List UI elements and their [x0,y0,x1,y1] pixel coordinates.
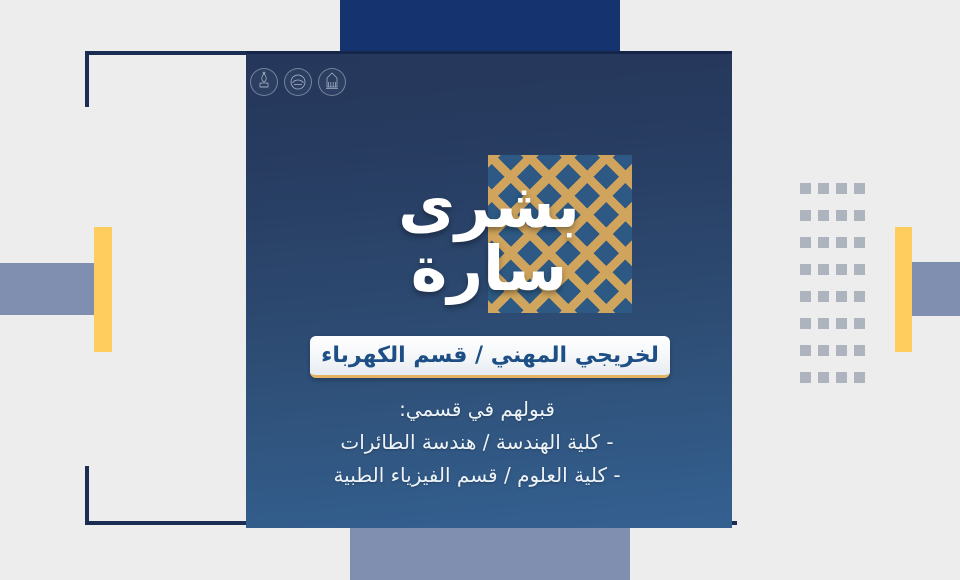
body-intro-line: قبولهم في قسمي: [246,396,708,423]
decor-dot [818,183,829,194]
decor-dot [818,210,829,221]
body-item-line: - كلية الهندسة / هندسة الطائرات [246,429,708,456]
decor-dot [854,237,865,248]
decor-dot [854,264,865,275]
poster-canvas: بشرى سارة لخريجي المهني / قسم الكهرباء ق… [0,0,960,580]
decor-dot [818,237,829,248]
announcement-card: بشرى سارة لخريجي المهني / قسم الكهرباء ق… [246,51,732,528]
decor-dot [800,345,811,356]
body-text-block: قبولهم في قسمي: - كلية الهندسة / هندسة ا… [246,396,732,495]
decor-dot [854,372,865,383]
decor-dot [800,210,811,221]
decor-right-yellow-bar [895,227,912,352]
decor-dot [854,318,865,329]
decor-dot [836,372,847,383]
decor-dot [800,372,811,383]
decor-dot [818,291,829,302]
department-banner: لخريجي المهني / قسم الكهرباء [310,336,670,378]
department-banner-label: لخريجي المهني / قسم الكهرباء [321,343,659,368]
headline-block: بشرى سارة [246,155,732,320]
decor-dot [818,318,829,329]
decor-corner-bracket-top-left [85,51,252,107]
decor-left-yellow-bar [94,227,112,352]
decor-left-blue-bar [0,263,104,315]
decor-dot [836,345,847,356]
decor-dot [854,291,865,302]
decor-dot [836,291,847,302]
ministry-emblem-icon [250,68,278,96]
decor-dot [800,237,811,248]
college-emblem-icon [318,68,346,96]
decor-dot [854,210,865,221]
decor-dot-grid [800,183,872,399]
decor-dot [818,345,829,356]
decor-dot [836,210,847,221]
university-emblem-icon [284,68,312,96]
decor-dot [854,345,865,356]
headline-line-1: بشرى [398,176,580,237]
decor-dot [800,183,811,194]
decor-dot [836,237,847,248]
decor-dot [836,318,847,329]
decor-dot [836,183,847,194]
decor-dot [818,264,829,275]
headline-text: بشرى سارة [246,155,732,320]
decor-dot [836,264,847,275]
decor-dot [800,291,811,302]
decor-dot [800,264,811,275]
decor-dot [854,183,865,194]
decor-top-rectangle [340,0,620,58]
decor-right-blue-bar [910,262,960,316]
decor-dot [818,372,829,383]
emblem-row [250,68,346,96]
headline-line-2: سارة [411,239,568,300]
body-item-line: - كلية العلوم / قسم الفيزياء الطبية [246,462,708,489]
decor-dot [800,318,811,329]
